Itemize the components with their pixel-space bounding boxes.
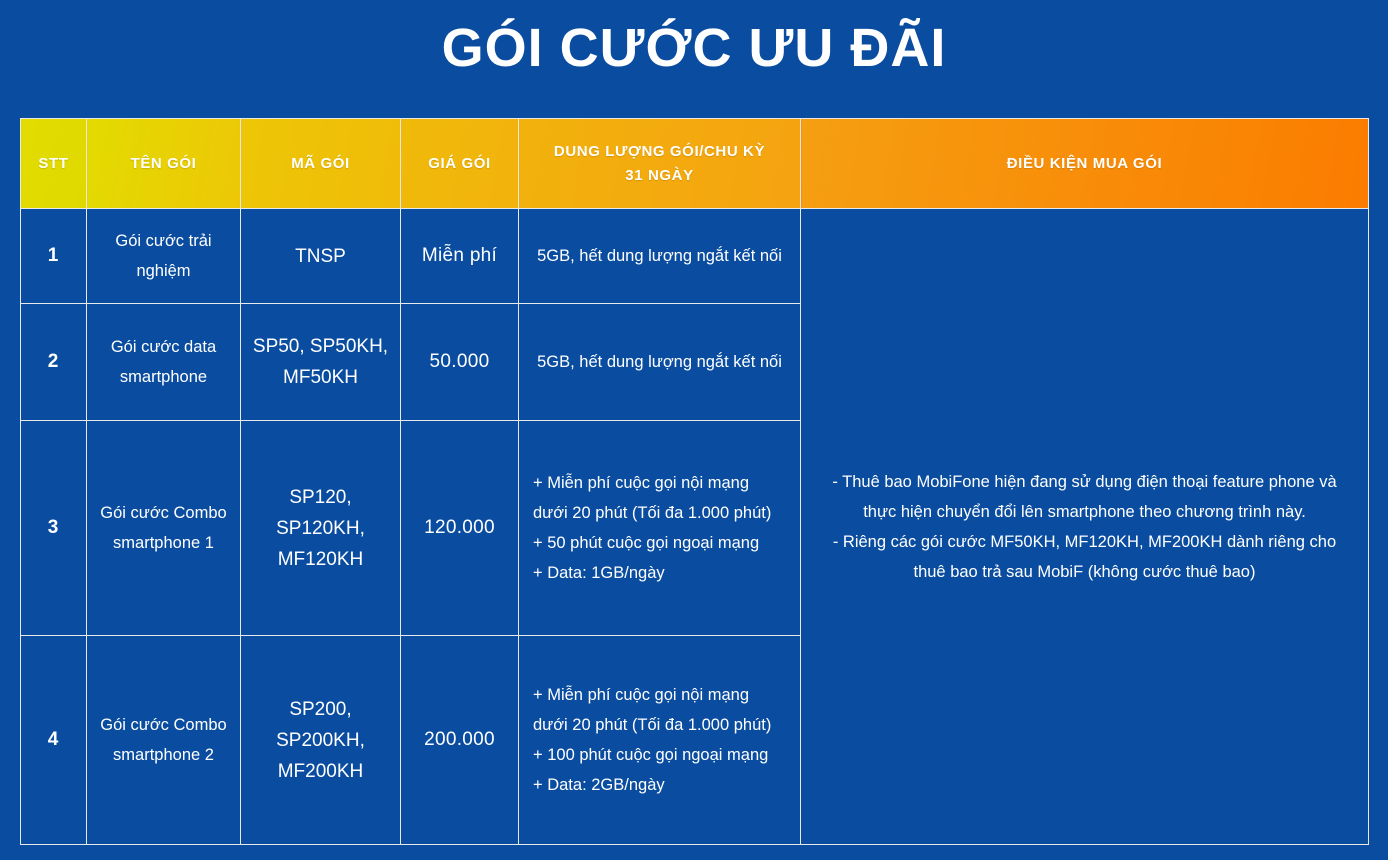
cell-stt: 2 (21, 304, 87, 421)
cell-ten-goi: Gói cước data smartphone (87, 304, 241, 421)
cell-dung-luong: 5GB, hết dung lượng ngắt kết nối (519, 209, 801, 304)
column-header-dung-luong: DUNG LƯỢNG GÓI/CHU KỲ 31 NGÀY (519, 119, 801, 209)
dung-luong-line-2: + 100 phút cuộc gọi ngoại mạng (533, 740, 786, 770)
column-header-dieu-kien: ĐIỀU KIỆN MUA GÓI (801, 119, 1369, 209)
cell-ma-goi: SP50, SP50KH, MF50KH (241, 304, 401, 421)
cell-stt: 3 (21, 421, 87, 636)
dung-luong-line-2: + 50 phút cuộc gọi ngoại mạng (533, 528, 786, 558)
cell-gia-goi: 200.000 (401, 636, 519, 845)
dung-luong-line-3: + Data: 1GB/ngày (533, 558, 786, 588)
table-body: 1 Gói cước trải nghiệm TNSP Miễn phí 5GB… (21, 209, 1369, 845)
page-title: GÓI CƯỚC ƯU ĐÃI (0, 10, 1388, 86)
cell-stt: 4 (21, 636, 87, 845)
cell-dung-luong: 5GB, hết dung lượng ngắt kết nối (519, 304, 801, 421)
column-header-ma-goi: MÃ GÓI (241, 119, 401, 209)
column-header-ten-goi: TÊN GÓI (87, 119, 241, 209)
cell-dung-luong: + Miễn phí cuộc gọi nội mạng dưới 20 phú… (519, 421, 801, 636)
column-header-dung-luong-line2: 31 NGÀY (519, 164, 800, 188)
pricing-table: STT TÊN GÓI MÃ GÓI GIÁ GÓI DUNG LƯỢNG GÓ… (20, 118, 1369, 845)
cell-gia-goi: Miễn phí (401, 209, 519, 304)
dung-luong-line-1: + Miễn phí cuộc gọi nội mạng dưới 20 phú… (533, 680, 786, 740)
table-header: STT TÊN GÓI MÃ GÓI GIÁ GÓI DUNG LƯỢNG GÓ… (21, 119, 1369, 209)
cell-dung-luong: + Miễn phí cuộc gọi nội mạng dưới 20 phú… (519, 636, 801, 845)
dieu-kien-line-2: - Riêng các gói cước MF50KH, MF120KH, MF… (819, 527, 1350, 587)
cell-ten-goi: Gói cước trải nghiệm (87, 209, 241, 304)
cell-gia-goi: 120.000 (401, 421, 519, 636)
column-header-gia-goi: GIÁ GÓI (401, 119, 519, 209)
cell-ten-goi: Gói cước Combo smartphone 1 (87, 421, 241, 636)
cell-ma-goi: SP200, SP200KH, MF200KH (241, 636, 401, 845)
cell-stt: 1 (21, 209, 87, 304)
dung-luong-line-3: + Data: 2GB/ngày (533, 770, 786, 800)
cell-dieu-kien-mua-goi: - Thuê bao MobiFone hiện đang sử dụng đi… (801, 209, 1369, 845)
cell-ma-goi: TNSP (241, 209, 401, 304)
cell-ma-goi: SP120, SP120KH, MF120KH (241, 421, 401, 636)
column-header-dung-luong-line1: DUNG LƯỢNG GÓI/CHU KỲ (519, 140, 800, 164)
cell-gia-goi: 50.000 (401, 304, 519, 421)
table-row: 1 Gói cước trải nghiệm TNSP Miễn phí 5GB… (21, 209, 1369, 304)
dung-luong-line-1: + Miễn phí cuộc gọi nội mạng dưới 20 phú… (533, 468, 786, 528)
pricing-table-container: STT TÊN GÓI MÃ GÓI GIÁ GÓI DUNG LƯỢNG GÓ… (20, 118, 1368, 844)
dieu-kien-line-1: - Thuê bao MobiFone hiện đang sử dụng đi… (819, 467, 1350, 527)
cell-ten-goi: Gói cước Combo smartphone 2 (87, 636, 241, 845)
table-header-row: STT TÊN GÓI MÃ GÓI GIÁ GÓI DUNG LƯỢNG GÓ… (21, 119, 1369, 209)
promo-pricing-poster: GÓI CƯỚC ƯU ĐÃI STT TÊN GÓI MÃ GÓI GIÁ G… (0, 0, 1388, 860)
column-header-stt: STT (21, 119, 87, 209)
